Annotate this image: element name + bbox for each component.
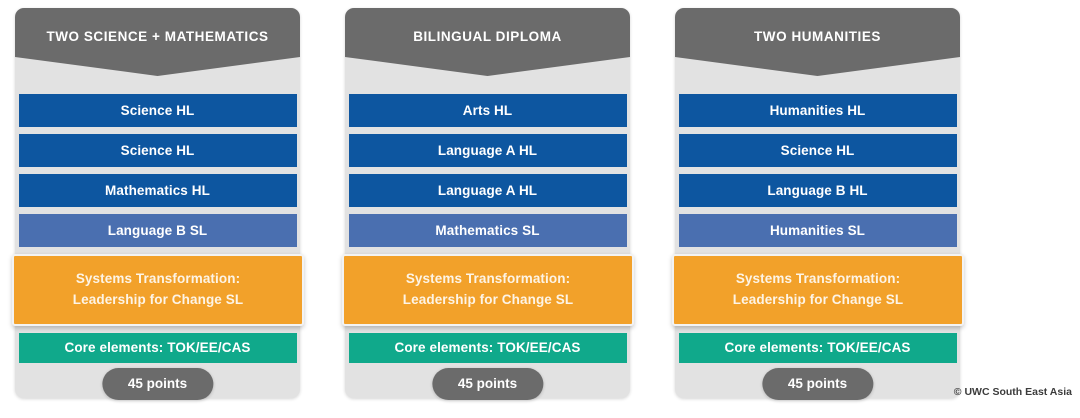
core-elements-bar: Core elements: TOK/EE/CAS bbox=[349, 333, 627, 363]
subject-bar: Language A HL bbox=[349, 134, 627, 167]
subject-bar: Mathematics SL bbox=[349, 214, 627, 247]
copyright-credit: © UWC South East Asia bbox=[954, 386, 1072, 398]
points-badge-3: 45 points bbox=[762, 368, 873, 400]
core-elements-bar: Core elements: TOK/EE/CAS bbox=[19, 333, 297, 363]
subject-bar: Language A HL bbox=[349, 174, 627, 207]
subject-bar: Humanities HL bbox=[679, 94, 957, 127]
card-title-1: TWO SCIENCE + MATHEMATICS bbox=[46, 30, 268, 45]
feature-line-1: Systems Transformation: bbox=[76, 269, 240, 290]
points-badge-1: 45 points bbox=[102, 368, 213, 400]
pathway-card-3: TWO HUMANITIES Humanities HL Science HL … bbox=[675, 8, 960, 398]
feature-line-2: Leadership for Change SL bbox=[733, 290, 903, 311]
feature-line-2: Leadership for Change SL bbox=[403, 290, 573, 311]
feature-line-1: Systems Transformation: bbox=[406, 269, 570, 290]
subject-bar: Language B SL bbox=[19, 214, 297, 247]
feature-line-1: Systems Transformation: bbox=[736, 269, 900, 290]
feature-course-box: Systems Transformation: Leadership for C… bbox=[342, 254, 634, 326]
feature-line-2: Leadership for Change SL bbox=[73, 290, 243, 311]
feature-course-box: Systems Transformation: Leadership for C… bbox=[12, 254, 304, 326]
card-title-2: BILINGUAL DIPLOMA bbox=[413, 30, 562, 45]
card-header-2: BILINGUAL DIPLOMA bbox=[345, 8, 630, 76]
points-badge-2: 45 points bbox=[432, 368, 543, 400]
feature-course-box: Systems Transformation: Leadership for C… bbox=[672, 254, 964, 326]
subject-bar: Arts HL bbox=[349, 94, 627, 127]
subject-bar: Science HL bbox=[19, 134, 297, 167]
subject-stack-2: Arts HL Language A HL Language A HL Math… bbox=[345, 94, 630, 369]
subject-bar: Science HL bbox=[679, 134, 957, 167]
subject-bar: Mathematics HL bbox=[19, 174, 297, 207]
card-title-3: TWO HUMANITIES bbox=[754, 30, 881, 45]
subject-bar: Humanities SL bbox=[679, 214, 957, 247]
diploma-pathways-board: TWO SCIENCE + MATHEMATICS Science HL Sci… bbox=[0, 0, 1080, 418]
pathway-card-2: BILINGUAL DIPLOMA Arts HL Language A HL … bbox=[345, 8, 630, 398]
core-elements-bar: Core elements: TOK/EE/CAS bbox=[679, 333, 957, 363]
subject-bar: Language B HL bbox=[679, 174, 957, 207]
pathway-card-1: TWO SCIENCE + MATHEMATICS Science HL Sci… bbox=[15, 8, 300, 398]
subject-stack-3: Humanities HL Science HL Language B HL H… bbox=[675, 94, 960, 369]
subject-stack-1: Science HL Science HL Mathematics HL Lan… bbox=[15, 94, 300, 369]
card-header-3: TWO HUMANITIES bbox=[675, 8, 960, 76]
card-header-1: TWO SCIENCE + MATHEMATICS bbox=[15, 8, 300, 76]
subject-bar: Science HL bbox=[19, 94, 297, 127]
